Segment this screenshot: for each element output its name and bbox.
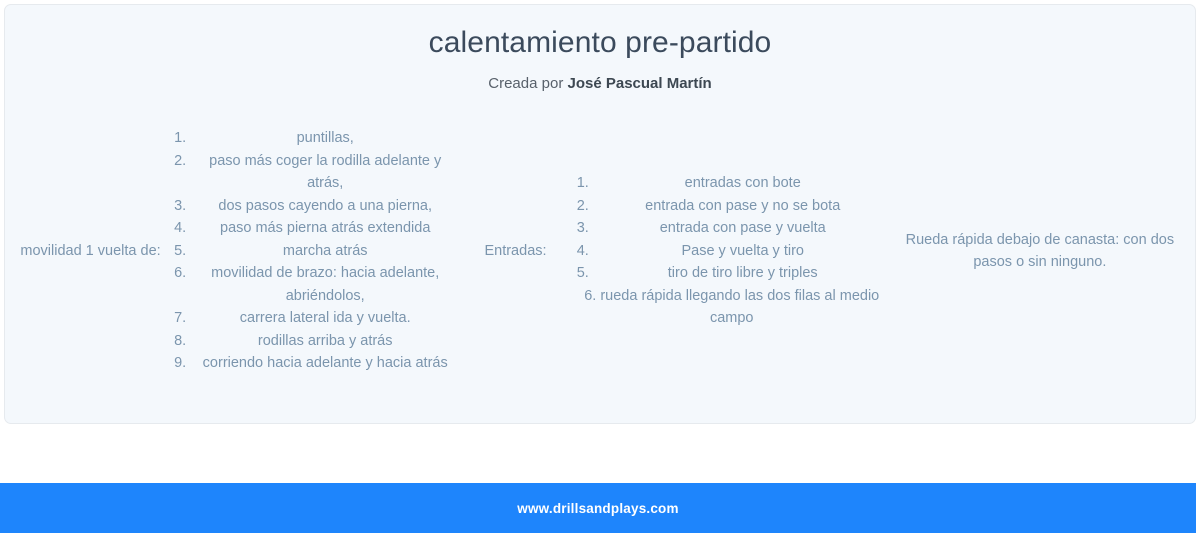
list-item: rueda rápida llegando las dos filas al m… (577, 285, 887, 330)
list-item: movilidad de brazo: hacia adelante, abri… (174, 262, 454, 307)
list-item: carrera lateral ida y vuelta. (174, 307, 454, 329)
list-item: marcha atrás (174, 240, 454, 262)
movilidad-label: movilidad 1 vuelta de: (20, 243, 160, 259)
page-title: calentamiento pre-partido (5, 25, 1195, 61)
spacer-band (0, 424, 1200, 483)
closing-text: Rueda rápida debajo de canasta: con dos … (906, 232, 1174, 270)
column-closing-text: Rueda rápida debajo de canasta: con dos … (891, 229, 1189, 274)
entradas-list-continued: rueda rápida llegando las dos filas al m… (577, 285, 887, 330)
list-item: tiro de tiro libre y triples (577, 262, 887, 284)
column-movilidad-list: puntillas, paso más coger la rodilla ade… (170, 127, 458, 374)
column-entradas-list: entradas con bote entrada con pase y no … (573, 172, 891, 329)
drill-header: calentamiento pre-partido Creada por Jos… (5, 5, 1195, 93)
list-item: entradas con bote (577, 172, 887, 194)
list-item: entrada con pase y no se bota (577, 195, 887, 217)
drill-page: calentamiento pre-partido Creada por Jos… (0, 0, 1200, 533)
column-entradas-label: Entradas: (458, 240, 572, 262)
site-footer: www.drillsandplays.com (0, 483, 1196, 533)
list-item: puntillas, (174, 127, 454, 149)
list-item: rodillas arriba y atrás (174, 330, 454, 352)
list-item: Pase y vuelta y tiro (577, 240, 887, 262)
column-movilidad-label: movilidad 1 vuelta de: (11, 240, 170, 262)
list-item: paso más pierna atrás extendida (174, 217, 454, 239)
list-item: dos pasos cayendo a una pierna, (174, 195, 454, 217)
list-item: entrada con pase y vuelta (577, 217, 887, 239)
drill-byline: Creada por José Pascual Martín (5, 75, 1195, 93)
drill-panel: calentamiento pre-partido Creada por Jos… (4, 4, 1196, 424)
site-url-link[interactable]: www.drillsandplays.com (517, 501, 678, 516)
movilidad-list: puntillas, paso más coger la rodilla ade… (174, 127, 454, 374)
byline-prefix: Creada por (488, 75, 563, 92)
entradas-label: Entradas: (484, 243, 546, 259)
list-item: corriendo hacia adelante y hacia atrás (174, 352, 454, 374)
drill-author: José Pascual Martín (567, 75, 711, 92)
drill-columns: movilidad 1 vuelta de: puntillas, paso m… (5, 93, 1195, 409)
list-item: paso más coger la rodilla adelante y atr… (174, 150, 454, 195)
entradas-list: entradas con bote entrada con pase y no … (577, 172, 887, 284)
